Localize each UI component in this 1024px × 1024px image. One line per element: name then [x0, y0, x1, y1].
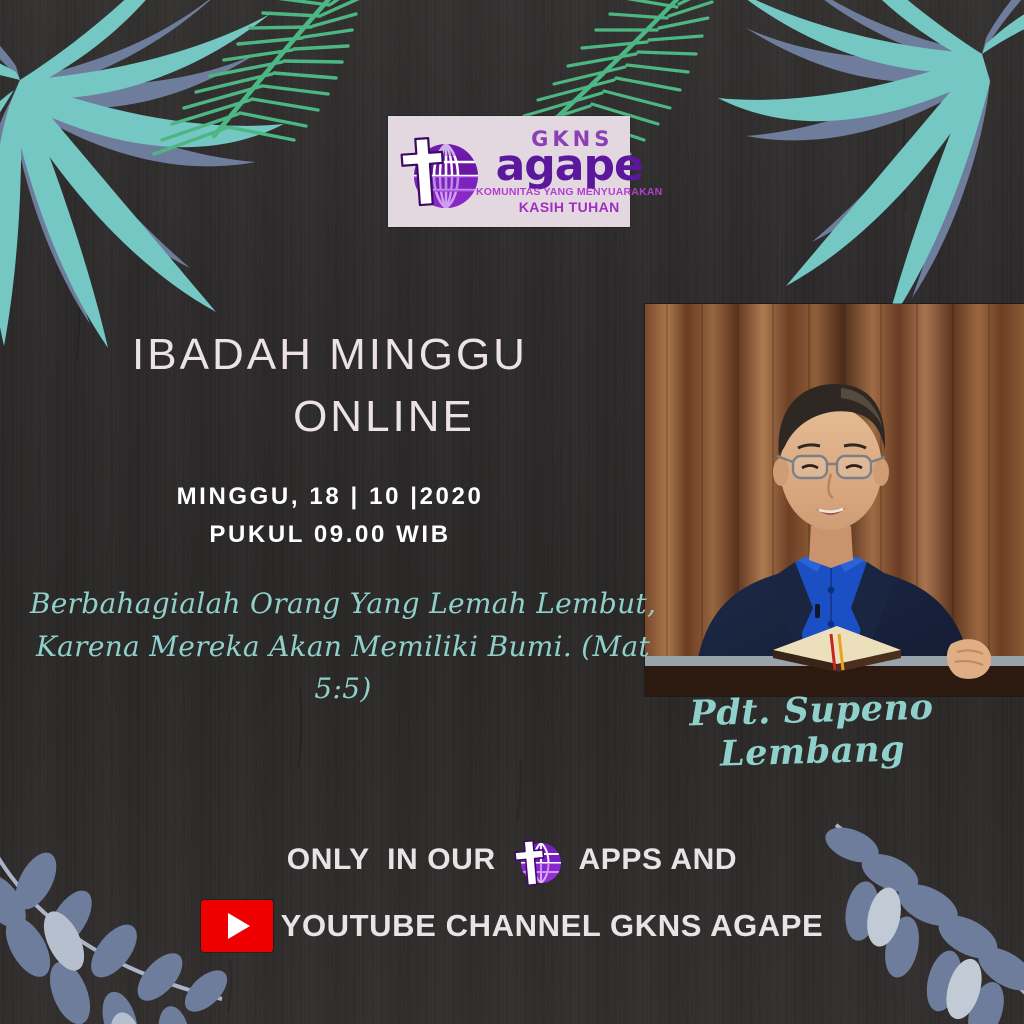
headline-line-1: IBADAH MINGGU	[60, 324, 600, 386]
cta-row-apps: ONLY IN OUR APPS AND	[0, 832, 1024, 888]
pastor-photo	[645, 304, 1024, 696]
feather-palm-left	[150, 0, 380, 180]
verse-line-2: Karena Mereka Akan Memiliki Bumi. (Mat 5…	[18, 626, 668, 711]
pastor-photo-illustration	[645, 304, 1024, 696]
headline-line-2: ONLINE	[60, 386, 600, 448]
palm-frond-top-right	[664, 0, 1024, 320]
cta-apps-suffix: APPS AND	[571, 843, 738, 877]
scripture-verse: Berbahagialah Orang Yang Lemah Lembut, K…	[18, 583, 668, 711]
logo-wordmark: GKNS agape KOMUNITAS YANG MENYUARAKAN KA…	[476, 129, 662, 214]
cta-youtube-text: YOUTUBE CHANNEL GKNS AGAPE	[281, 908, 824, 944]
logo-tagline-2: KASIH TUHAN	[519, 200, 620, 214]
gkns-agape-logo: GKNS agape KOMUNITAS YANG MENYUARAKAN KA…	[388, 116, 630, 227]
verse-line-1: Berbahagialah Orang Yang Lemah Lembut,	[30, 587, 656, 620]
globe-cross-icon	[509, 832, 565, 888]
poster-canvas: GKNS agape KOMUNITAS YANG MENYUARAKAN KA…	[0, 0, 1024, 1024]
call-to-action: ONLY IN OUR APPS AND YOUTUBE CHANNEL G	[0, 832, 1024, 952]
schedule-date: MINGGU, 18 | 10 |2020	[177, 483, 484, 510]
play-triangle	[228, 913, 250, 939]
cta-row-youtube[interactable]: YOUTUBE CHANNEL GKNS AGAPE	[0, 900, 1024, 952]
palm-frond-top-left	[0, 0, 338, 350]
cta-apps-prefix: ONLY IN OUR	[287, 843, 505, 877]
logo-tagline-1: KOMUNITAS YANG MENYUARAKAN	[476, 187, 662, 198]
youtube-play-icon[interactable]	[201, 900, 273, 952]
page-title: IBADAH MINGGU ONLINE	[60, 324, 600, 449]
globe-cross-icon	[396, 126, 480, 218]
logo-agape-text: agape	[496, 146, 643, 186]
speaker-name: Pdt. Supeno Lembang	[599, 684, 1024, 778]
schedule-time: PUKUL 09.00 WIB	[60, 516, 600, 554]
schedule-block: MINGGU, 18 | 10 |2020 PUKUL 09.00 WIB	[60, 478, 600, 554]
